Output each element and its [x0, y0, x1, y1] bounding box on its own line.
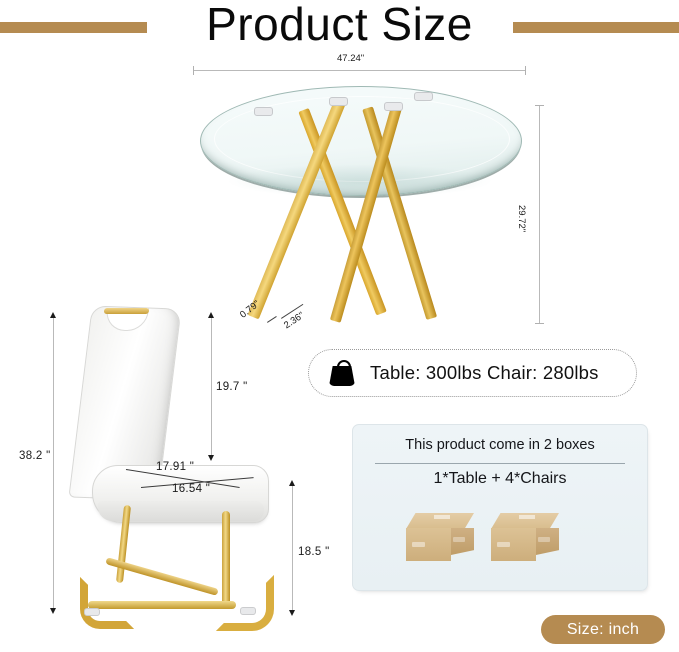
- packaging-panel: This product come in 2 boxes 1*Table + 4…: [352, 424, 648, 591]
- table-illustration: [186, 60, 536, 335]
- backrest-handle-icon: [104, 308, 150, 314]
- dim-cap: [525, 66, 526, 75]
- weight-icon: [327, 360, 357, 386]
- weight-capacity-badge: Table: 300lbs Chair: 280lbs: [308, 349, 637, 397]
- page-title: Product Size: [0, 0, 679, 51]
- floor-glide: [240, 607, 256, 615]
- table-width-label: 47.24": [337, 53, 364, 64]
- package-box: [491, 513, 559, 561]
- dim-arrow: [50, 608, 56, 614]
- dim-cap: [193, 66, 194, 75]
- dim-arrow: [289, 480, 295, 486]
- leg-top-cap: [414, 92, 433, 101]
- dim-arrow: [208, 455, 214, 461]
- package-box: [406, 513, 474, 561]
- chair-overall-height-label: 38.2 ": [19, 450, 50, 462]
- size-unit-badge: Size: inch: [541, 615, 665, 644]
- chair-frame-bottom-rail: [88, 601, 236, 609]
- chair-back-height-dim-line: [211, 318, 212, 455]
- dim-cap: [535, 105, 544, 106]
- leg-top-cap: [254, 107, 273, 116]
- table-width-dim-line: [193, 70, 526, 71]
- size-unit-label: Size: inch: [567, 621, 639, 639]
- packaging-divider: [375, 463, 625, 464]
- table-height-label: 29.72": [516, 205, 527, 232]
- product-size-infographic: Product Size 47.24" 29.72" 0.79" 2.36" T…: [0, 0, 679, 652]
- floor-glide: [84, 608, 100, 616]
- weight-capacity-text: Table: 300lbs Chair: 280lbs: [370, 362, 599, 384]
- tabletop-shadow: [226, 164, 494, 198]
- dim-cap: [535, 323, 544, 324]
- dim-arrow: [289, 610, 295, 616]
- dim-arrow: [50, 312, 56, 318]
- chair-back-height-label: 19.7 ": [216, 381, 247, 393]
- packaging-title: This product come in 2 boxes: [353, 437, 647, 453]
- seat-depth-label: 17.91 ": [156, 461, 194, 473]
- chair-height-dim-line: [53, 318, 54, 608]
- seat-width-label: 16.54 ": [172, 483, 210, 495]
- packaging-contents: 1*Table + 4*Chairs: [353, 470, 647, 488]
- leg-top-cap: [384, 102, 403, 111]
- table-height-dim-line: [539, 105, 540, 323]
- seat-height-label: 18.5 ": [298, 546, 329, 558]
- seat-height-dim-line: [292, 486, 293, 610]
- leg-top-cap: [329, 97, 348, 106]
- dim-arrow: [208, 312, 214, 318]
